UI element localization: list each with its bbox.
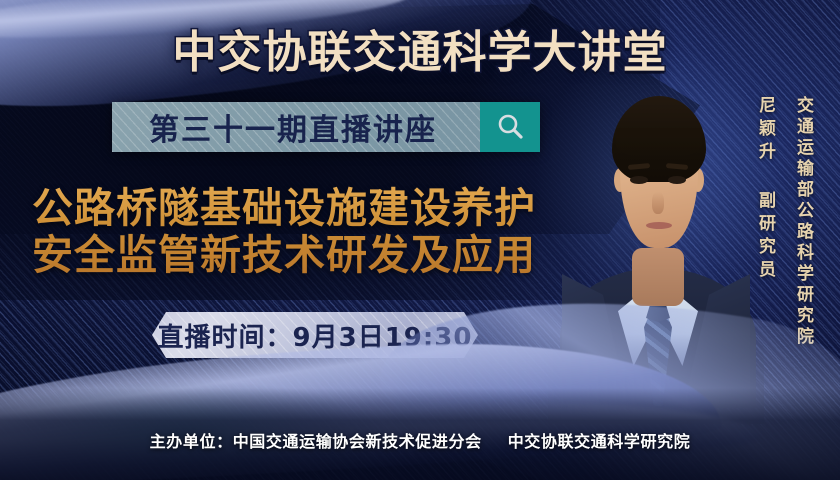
page-title: 中交协联交通科学大讲堂 — [0, 16, 840, 80]
portrait-mouth — [646, 222, 672, 229]
organizer-name-1: 中国交通运输协会新技术促进分会 — [233, 432, 482, 451]
episode-banner[interactable]: 第三十一期直播讲座 — [112, 102, 540, 152]
speaker-organization: 交通运输部公路科学研究院 — [791, 96, 816, 348]
poster-canvas: 中交协联交通科学大讲堂 第三十一期直播讲座 公路桥隧基础设施建设养护 安全监管新… — [0, 0, 840, 480]
portrait-nose — [652, 192, 664, 214]
speaker-portrait — [566, 72, 746, 394]
portrait-neck — [632, 248, 684, 306]
portrait-eye-left — [630, 176, 648, 184]
episode-label: 第三十一期直播讲座 — [112, 102, 480, 152]
lecture-title: 公路桥隧基础设施建设养护 安全监管新技术研发及应用 — [32, 185, 592, 278]
broadcast-time-banner: 直播时间：9月3日19:30 — [152, 312, 478, 358]
search-icon[interactable] — [480, 102, 540, 152]
broadcast-time-label: 直播时间：9月3日19:30 — [158, 317, 473, 354]
speaker-name: 尼颖升 副研究员 — [753, 96, 778, 283]
organizer-footer: 主办单位：中国交通运输协会新技术促进分会中交协联交通科学研究院 — [0, 428, 840, 452]
lecture-title-line-2: 安全监管新技术研发及应用 — [32, 232, 592, 279]
organizer-name-2: 中交协联交通科学研究院 — [508, 432, 691, 451]
organizer-prefix: 主办单位： — [150, 432, 233, 451]
lecture-title-line-1: 公路桥隧基础设施建设养护 — [32, 185, 592, 232]
portrait-eye-right — [668, 176, 686, 184]
portrait-fringe — [616, 128, 702, 158]
